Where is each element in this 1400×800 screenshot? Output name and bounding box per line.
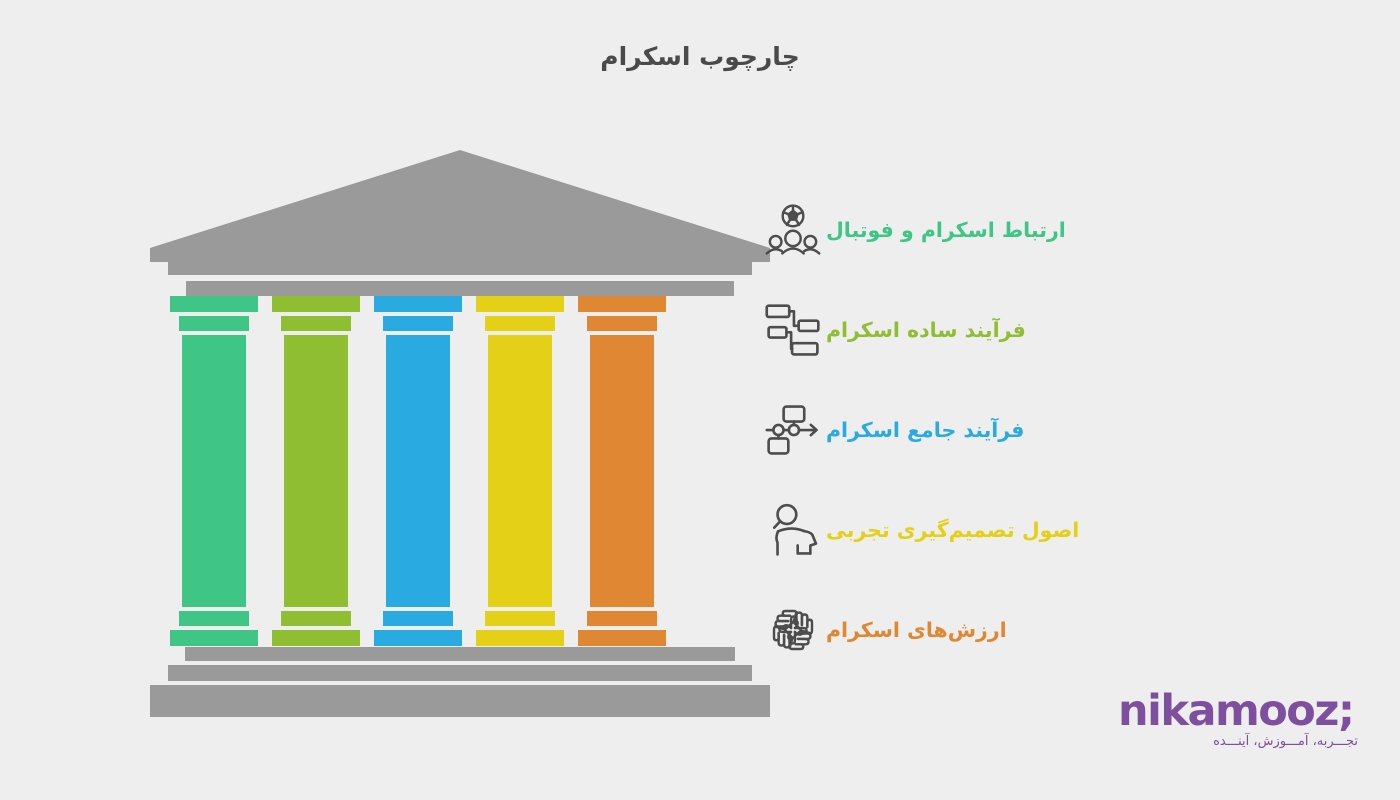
simple-flowchart-icon <box>760 297 826 363</box>
pillar-5-capital-top <box>578 296 666 312</box>
legend-item-5[interactable]: ارزش‌های اسکرام <box>760 580 1320 680</box>
temple-plinth-step-2 <box>168 665 752 681</box>
pillar-1-base-mid <box>179 611 249 626</box>
process-network-arrow-icon <box>760 397 826 463</box>
legend-item-2[interactable]: فرآیند ساده اسکرام <box>760 280 1320 380</box>
pillar-3-shaft <box>386 335 450 607</box>
temple-pediment-icon <box>150 150 770 262</box>
pillar-4-base-mid <box>485 611 555 626</box>
pillar-4-capital-mid <box>485 316 555 331</box>
pillar-1-capital-top <box>170 296 258 312</box>
pillar-3-base-bottom <box>374 630 462 646</box>
pillar-2-base-mid <box>281 611 351 626</box>
pillar-2-capital-mid <box>281 316 351 331</box>
pillar-3-capital-top <box>374 296 462 312</box>
temple-columns <box>150 296 770 646</box>
joined-hands-icon <box>760 597 826 663</box>
infographic-canvas: چارچوب اسکرام <box>0 0 1400 800</box>
legend-item-3-label: فرآیند جامع اسکرام <box>826 418 1024 442</box>
pillar-2-base-bottom <box>272 630 360 646</box>
pillar-2-shaft <box>284 335 348 607</box>
brand-logo[interactable]: nikamooz; تجـــربه، آمـــوزش، آینـــده <box>1118 690 1358 749</box>
pillar-3-capital-mid <box>383 316 453 331</box>
legend-item-2-label: فرآیند ساده اسکرام <box>826 318 1026 342</box>
legend-item-4-label: اصول تصمیم‌گیری تجربی <box>826 518 1079 542</box>
pillar-3-base-mid <box>383 611 453 626</box>
page-title: چارچوب اسکرام <box>0 42 1400 71</box>
temple-plinth-step-1 <box>185 647 735 661</box>
legend-item-4[interactable]: اصول تصمیم‌گیری تجربی <box>760 480 1320 580</box>
pillar-5-base-mid <box>587 611 657 626</box>
legend-item-1[interactable]: ارتباط اسکرام و فوتبال <box>760 180 1320 280</box>
pillar-5-shaft <box>590 335 654 607</box>
pillar-4-shaft <box>488 335 552 607</box>
brand-logo-wordmark: nikamooz; <box>1118 690 1358 732</box>
brand-logo-tagline: تجـــربه، آمـــوزش، آینـــده <box>1118 734 1358 749</box>
legend-item-3[interactable]: فرآیند جامع اسکرام <box>760 380 1320 480</box>
pillar-5[interactable] <box>578 296 666 646</box>
pillar-1-base-bottom <box>170 630 258 646</box>
pillar-1-capital-mid <box>179 316 249 331</box>
pillar-1[interactable] <box>170 296 258 646</box>
pillar-4-base-bottom <box>476 630 564 646</box>
pillar-3[interactable] <box>374 296 462 646</box>
pillar-5-capital-mid <box>587 316 657 331</box>
head-magnifier-icon <box>760 497 826 563</box>
pillar-5-base-bottom <box>578 630 666 646</box>
scrum-temple-graphic <box>150 150 770 710</box>
pillar-4-capital-top <box>476 296 564 312</box>
legend-list: ارتباط اسکرام و فوتبال فرآیند ساده اسکرا… <box>760 180 1320 680</box>
legend-item-5-label: ارزش‌های اسکرام <box>826 618 1007 642</box>
soccer-ball-team-icon <box>760 197 826 263</box>
temple-entablature-upper <box>168 262 752 275</box>
temple-entablature-lower <box>186 281 734 296</box>
temple-plinth-step-3 <box>150 685 770 717</box>
legend-item-1-label: ارتباط اسکرام و فوتبال <box>826 218 1066 242</box>
pillar-1-shaft <box>182 335 246 607</box>
pillar-4[interactable] <box>476 296 564 646</box>
pillar-2-capital-top <box>272 296 360 312</box>
pillar-2[interactable] <box>272 296 360 646</box>
